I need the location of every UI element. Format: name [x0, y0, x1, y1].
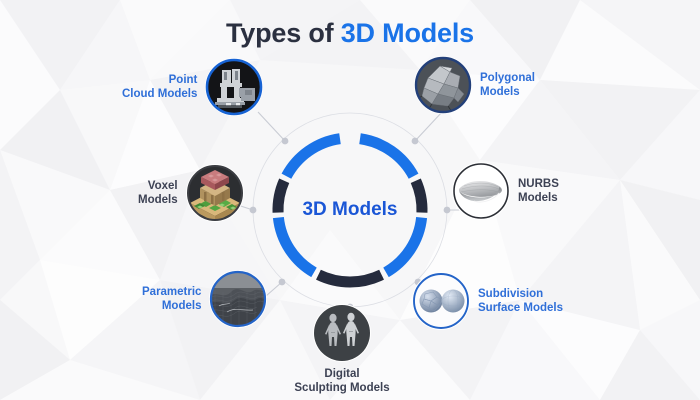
point-cloud-scan-thumbnail[interactable]: [205, 58, 263, 116]
ring-segment: [278, 181, 284, 213]
digital-sculpting-figures-thumbnail[interactable]: [313, 304, 371, 362]
voxel-scene-thumbnail[interactable]: [186, 164, 244, 222]
node-digital-sculpting[interactable]: Digital Sculpting Models: [282, 304, 402, 395]
parametric-terrain-thumbnail[interactable]: [209, 270, 267, 328]
node-parametric-label: Parametric Models: [142, 285, 201, 313]
subdivision-spheres-thumbnail[interactable]: [412, 272, 470, 330]
title-prefix: Types of: [226, 18, 341, 48]
node-point-cloud-label: Point Cloud Models: [122, 73, 197, 101]
ring-segment: [286, 139, 340, 176]
ring-segment: [416, 181, 422, 213]
page-title: Types of 3D Models: [0, 18, 700, 49]
ring-segment: [360, 139, 414, 176]
ring-segment: [386, 218, 422, 273]
node-digital-sculpting-label: Digital Sculpting Models: [294, 367, 389, 395]
nurbs-surface-thumbnail[interactable]: [452, 162, 510, 220]
node-subdivision[interactable]: Subdivision Surface Models: [412, 272, 563, 330]
node-point-cloud[interactable]: Point Cloud Models: [122, 58, 263, 116]
title-accent: 3D Models: [341, 18, 474, 48]
ring-segment: [318, 275, 381, 282]
infographic-canvas: Types of 3D Models 3D Models: [0, 0, 700, 400]
ring-segment: [278, 218, 314, 273]
node-polygonal-label: Polygonal Models: [480, 71, 535, 99]
node-parametric[interactable]: Parametric Models: [142, 270, 267, 328]
node-nurbs-label: NURBS Models: [518, 177, 559, 205]
node-voxel-label: Voxel Models: [138, 179, 178, 207]
node-nurbs[interactable]: NURBS Models: [452, 162, 559, 220]
polygonal-mesh-thumbnail[interactable]: [414, 56, 472, 114]
node-subdivision-label: Subdivision Surface Models: [478, 287, 563, 315]
node-voxel[interactable]: Voxel Models: [138, 164, 244, 222]
node-polygonal[interactable]: Polygonal Models: [414, 56, 535, 114]
